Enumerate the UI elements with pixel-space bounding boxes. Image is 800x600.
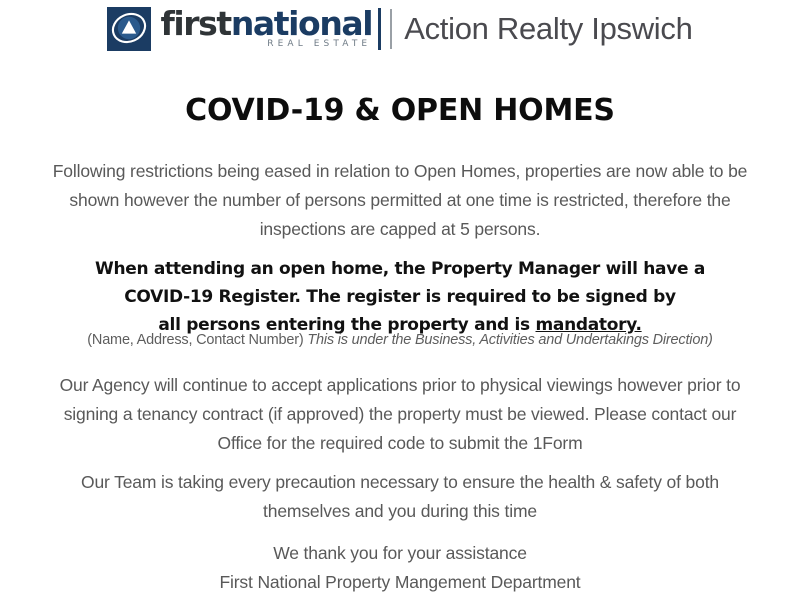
register-note-plain: (Name, Address, Contact Number) <box>87 332 307 348</box>
paragraph-register-line1: When attending an open home, the Propert… <box>50 255 750 283</box>
paragraph-thanks-wrap: We thank you for your assistance First N… <box>50 539 750 597</box>
register-note-italic: This is under the Business, Activities a… <box>307 332 712 348</box>
page-title: COVID-19 & OPEN HOMES <box>0 92 800 130</box>
wordmark-first: first <box>160 4 230 43</box>
brand-divider-navy <box>378 8 381 50</box>
paragraph-thanks-line2: First National Property Mangement Depart… <box>50 568 750 597</box>
wordmark-block: firstnational REAL ESTATE <box>160 7 372 51</box>
paragraph-register-line2: COVID-19 Register. The register is requi… <box>50 283 750 311</box>
paragraph-agency: Our Agency will continue to accept appli… <box>50 371 750 458</box>
office-name: Action Realty Ipswich <box>404 12 692 46</box>
paragraph-intro-wrap: Following restrictions being eased in re… <box>50 157 750 244</box>
paragraph-intro: Following restrictions being eased in re… <box>50 157 750 244</box>
wordmark: firstnational <box>160 9 372 39</box>
wordmark-national: national <box>231 4 372 43</box>
paragraph-agency-wrap: Our Agency will continue to accept appli… <box>50 371 750 458</box>
paragraph-register-wrap: When attending an open home, the Propert… <box>50 255 750 339</box>
brand-divider-grey <box>390 9 392 49</box>
paragraph-register-note-wrap: (Name, Address, Contact Number) This is … <box>50 330 750 350</box>
paragraph-register-note: (Name, Address, Contact Number) This is … <box>50 330 750 350</box>
first-national-logo-icon <box>107 7 151 51</box>
wordmark-subtitle: REAL ESTATE <box>160 39 372 50</box>
letterhead: firstnational REAL ESTATE Action Realty … <box>0 0 800 58</box>
brand-row: firstnational REAL ESTATE Action Realty … <box>107 5 692 53</box>
paragraph-team: Our Team is taking every precaution nece… <box>50 468 750 526</box>
paragraph-thanks-line1: We thank you for your assistance <box>50 539 750 568</box>
notice-page: firstnational REAL ESTATE Action Realty … <box>0 0 800 600</box>
paragraph-team-wrap: Our Team is taking every precaution nece… <box>50 468 750 526</box>
